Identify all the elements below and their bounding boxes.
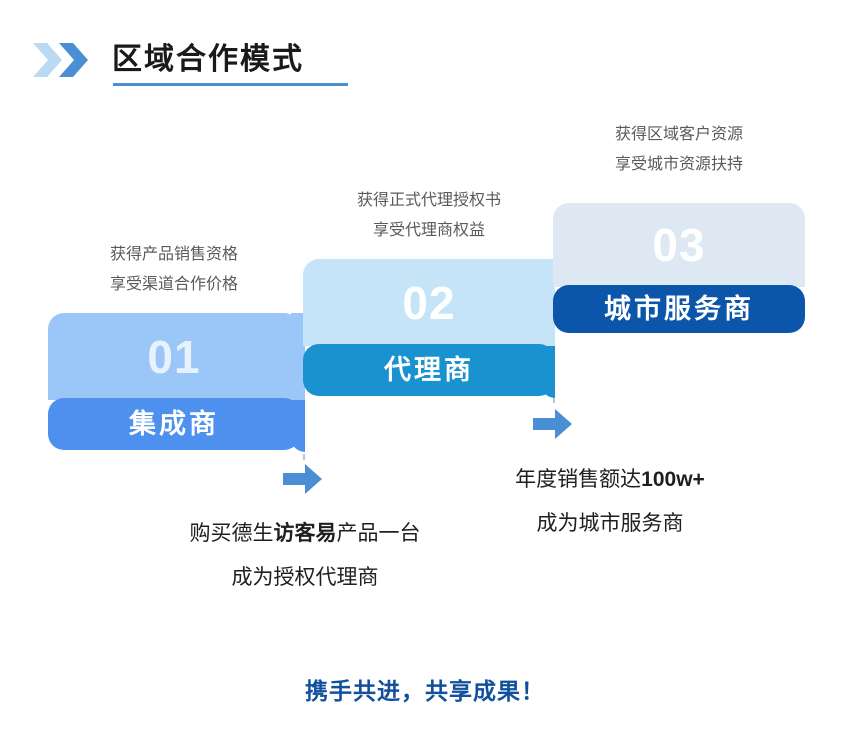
- tier-card-02[interactable]: 02 代理商: [303, 259, 555, 398]
- card-02-benefits: 获得正式代理授权书 享受代理商权益: [303, 186, 555, 246]
- tier-card-01-bottom: 集成商: [48, 398, 300, 450]
- arrow-right-icon-2: [533, 408, 573, 440]
- tier-card-02-bottom: 代理商: [303, 344, 555, 396]
- tier-card-03-label: 城市服务商: [604, 296, 754, 323]
- tier-card-01-number: 01: [147, 334, 200, 380]
- title-underline: [113, 83, 348, 86]
- tier-card-03[interactable]: 03 城市服务商: [553, 203, 805, 335]
- caption-tier-2-line-1: 年度销售额达100w+: [430, 458, 790, 502]
- header: 区域合作模式: [0, 0, 850, 100]
- card-01-benefit-line-1: 获得产品销售资格: [48, 240, 300, 270]
- tier-card-01[interactable]: 01 集成商: [48, 313, 300, 452]
- caption-tier-2-line-2: 成为城市服务商: [430, 502, 790, 546]
- infographic-stage: 区域合作模式 获得产品销售资格 享受渠道合作价格 获得正式代理授权书 享受代理商…: [0, 0, 850, 737]
- caption-1-prefix: 购买德生: [190, 522, 274, 545]
- card-01-benefits: 获得产品销售资格 享受渠道合作价格: [48, 240, 300, 300]
- tier-card-02-number: 02: [402, 280, 455, 326]
- tier-card-02-top: 02: [303, 259, 555, 346]
- tier-card-03-number: 03: [652, 222, 705, 268]
- card-02-benefit-line-1: 获得正式代理授权书: [303, 186, 555, 216]
- caption-1-strong: 访客易: [274, 522, 337, 545]
- tier-card-03-bottom: 城市服务商: [553, 285, 805, 333]
- tier-card-01-label: 集成商: [129, 411, 219, 438]
- chevron-group: [33, 43, 99, 77]
- card-02-benefit-line-2: 享受代理商权益: [303, 216, 555, 246]
- page-title: 区域合作模式: [112, 40, 304, 80]
- card-03-benefit-line-1: 获得区域客户资源: [553, 120, 805, 150]
- caption-2-prefix: 年度销售额达: [515, 468, 641, 491]
- caption-tier-2: 年度销售额达100w+ 成为城市服务商: [430, 458, 790, 546]
- caption-tier-1-line-2: 成为授权代理商: [125, 556, 485, 600]
- slogan: 携手共进，共享成果！: [0, 672, 850, 706]
- tier-card-01-top: 01: [48, 313, 300, 400]
- card-03-benefit-line-2: 享受城市资源扶持: [553, 150, 805, 180]
- arrow-right-icon-1: [283, 463, 323, 495]
- caption-2-strong: 100w+: [641, 468, 705, 491]
- caption-1-suffix: 产品一台: [337, 522, 421, 545]
- chevron-right-icon-dark: [59, 43, 89, 77]
- card-01-benefit-line-2: 享受渠道合作价格: [48, 270, 300, 300]
- card-03-benefits: 获得区域客户资源 享受城市资源扶持: [553, 120, 805, 180]
- tier-card-03-top: 03: [553, 203, 805, 287]
- tier-card-02-label: 代理商: [384, 357, 474, 384]
